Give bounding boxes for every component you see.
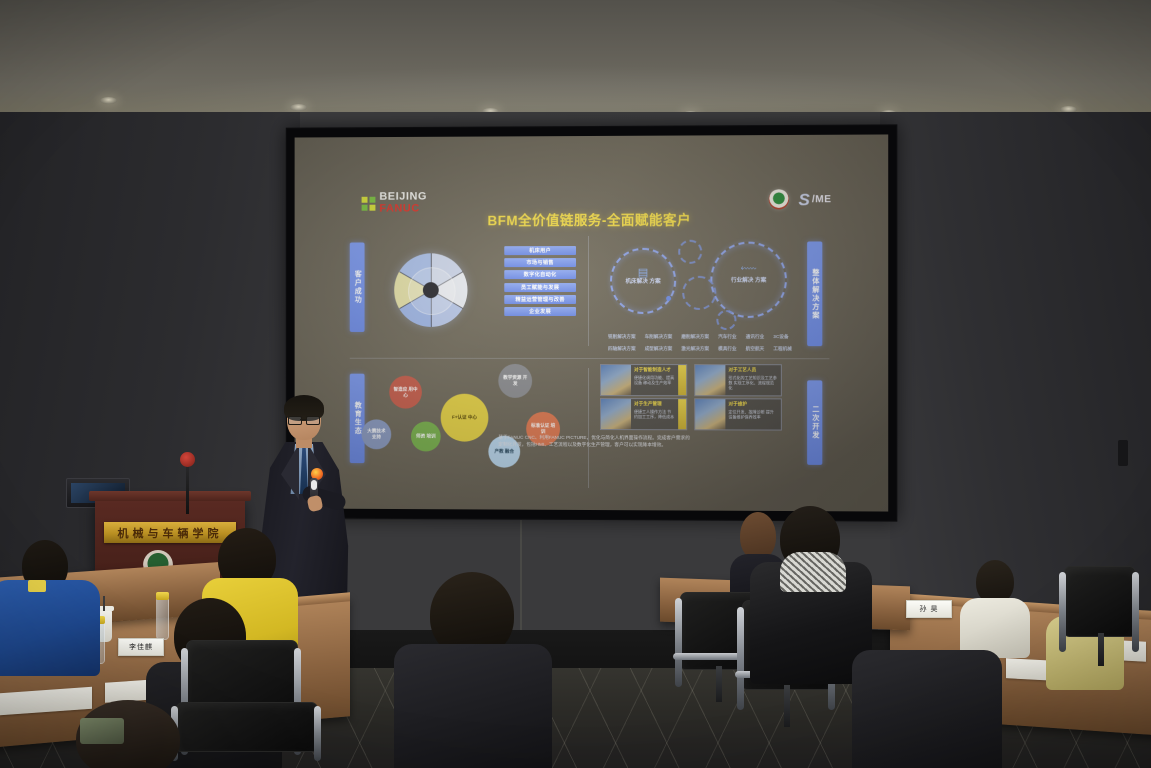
audience-member-center (398, 572, 548, 768)
value-bar: 企业发展 (504, 307, 576, 316)
microphone-stand (186, 462, 189, 514)
audience-member-front-head (52, 700, 202, 768)
industry-tag: 工程机械 (773, 346, 792, 352)
downlight (290, 104, 307, 111)
dev-card-header: 对于工艺人员 (728, 367, 777, 373)
eco-circle-f-plus: F+认证 中心 (441, 394, 489, 442)
dev-card-text: 便捷工人操作方法 节约加工工序，降低成本 (634, 409, 675, 420)
gear-label: 行业解决 方案 (712, 278, 785, 285)
car-icon: ⬳ (741, 262, 757, 275)
gear-label: 机床解决 方案 (612, 279, 674, 286)
partner-badges: S /ME (769, 189, 831, 209)
badge-lanyard (28, 580, 46, 592)
podium-top (89, 491, 251, 501)
seal-emblem-icon (769, 189, 789, 209)
industry-tag: 航空航天 (746, 346, 765, 352)
dev-card-header: 对于生产管理 (634, 401, 675, 407)
hood-pattern (780, 552, 846, 592)
quadrant-label-total-solution: 整体解决方案 (807, 241, 822, 346)
wall-speaker (1118, 440, 1128, 466)
industry-tag: 通讯行业 (746, 334, 765, 340)
dev-card: 对于工艺人员 形式化的工艺知识及工艺参数 实现工序化、流程规范化 (694, 364, 782, 396)
industry-tag: 汽车行业 (718, 334, 737, 340)
dev-card-text: 形式化的工艺知识及工艺参数 实现工序化、流程规范化 (728, 375, 777, 391)
gear-machine-tool-solution: ▤ 机床解决 方案 (610, 248, 676, 314)
machine-tool-icon: ▤ (638, 266, 648, 279)
torso (0, 580, 100, 676)
eco-circle: 智造应 用中心 (389, 376, 422, 409)
dev-paragraph: 基于FANUC CNC、利用FANUC PICTURE，优化与简化人机界面操作流… (498, 434, 694, 449)
presentation-slide: BEIJING FANUC S /ME BFM全价值链服务-全面赋能客户 (295, 134, 889, 511)
projection-screen: BEIJING FANUC S /ME BFM全价值链服务-全面赋能客户 (295, 134, 889, 511)
torso (852, 650, 1002, 768)
slide-title: BFM全价值链服务-全面赋能客户 (295, 208, 889, 230)
value-bar: 员工赋能与发展 (504, 283, 576, 292)
torso (394, 644, 552, 768)
dev-card: 对于生产管理 便捷工人操作方法 节约加工工序，降低成本 (600, 398, 687, 430)
dev-card-photo (695, 399, 725, 429)
ceiling (0, 0, 1151, 118)
value-bar: 市场与销售 (504, 258, 576, 267)
dev-card-text: 定位开发、故障诊断 提升设备维护保养效率 (728, 409, 777, 420)
gear-industry-solution: ⬳ 行业解决 方案 (710, 242, 787, 318)
eco-circle: 师资 培训 (411, 422, 441, 452)
glasses-icon (288, 416, 320, 423)
value-bar: 精益运营管理与改善 (504, 295, 576, 304)
industry-row-1: 铣削解决方案 车削解决方案 磨削解决方案 汽车行业 通讯行业 3C设备 (608, 334, 789, 340)
gear-small-icon (678, 240, 702, 264)
smartphone[interactable] (80, 718, 124, 744)
eco-circle: 大赛技术 支持 (362, 419, 392, 449)
gear-small-icon (716, 310, 736, 330)
divider-vertical-bottom (588, 368, 589, 488)
dev-card-photo (601, 399, 631, 429)
audience-member-right-front (852, 640, 1002, 768)
chair (1064, 566, 1134, 662)
value-bar: 数字化自动化 (504, 270, 576, 279)
downlight (100, 97, 117, 104)
dev-card-photo (695, 365, 725, 395)
dev-card: 对于智能制造人才 便捷化调用功能、提高设备 稼动及生产效率 (600, 364, 687, 396)
divider-vertical-top (588, 236, 589, 346)
dev-card-photo (601, 365, 631, 395)
screenshot-root: BEIJING FANUC S /ME BFM全价值链服务-全面赋能客户 (0, 0, 1151, 768)
industry-tag: 3C设备 (773, 334, 788, 340)
industry-tag: 激光解决方案 (681, 346, 709, 352)
audience-member (962, 560, 1026, 652)
dev-card-tab (678, 399, 686, 429)
projection-screen-frame: BEIJING FANUC S /ME BFM全价值链服务-全面赋能客户 (286, 124, 898, 521)
dev-card: 对于维护 定位开发、故障诊断 提升设备维护保养效率 (694, 398, 782, 430)
dev-card-tab (678, 365, 686, 395)
value-bar-list: 机床用户 市场与销售 数字化自动化 员工赋能与发展 精益运营管理与改善 企业发展 (504, 246, 576, 316)
industry-row-2: 四轴解决方案 成型解决方案 激光解决方案 模具行业 航空航天 工程机械 (608, 346, 792, 352)
logo-squares-icon (362, 196, 376, 210)
industry-tag: 磨削解决方案 (681, 334, 709, 340)
industry-tag: 铣削解决方案 (608, 334, 636, 340)
sme-swoosh-icon: S (798, 191, 809, 208)
dev-card-header: 对于维护 (728, 401, 777, 407)
gear-dot-icon (666, 296, 671, 301)
industry-tag: 车削解决方案 (645, 334, 673, 340)
industry-tag: 四轴解决方案 (608, 346, 636, 352)
sme-label: /ME (812, 194, 832, 205)
microphone-head-icon (180, 452, 195, 467)
sme-logo: S /ME (798, 191, 831, 208)
audience-member-blue-jacket (0, 540, 104, 668)
dev-card-header: 对于智能制造人才 (634, 367, 675, 373)
name-card: 孙 昊 (906, 600, 952, 618)
value-wheel-diagram (394, 253, 467, 327)
dev-card-text: 便捷化调用功能、提高设备 稼动及生产效率 (634, 375, 675, 386)
gear-small-icon (682, 276, 716, 310)
eco-circle: 教学资源 开发 (498, 364, 532, 398)
value-bar: 机床用户 (504, 246, 576, 255)
logo-line-beijing: BEIJING (379, 192, 427, 204)
industry-tag: 模具行业 (718, 346, 737, 352)
industry-tag: 成型解决方案 (645, 346, 673, 352)
quadrant-label-customer-success: 客户成功 (350, 242, 365, 331)
divider-horizontal (350, 358, 830, 359)
quadrant-label-secondary-development: 二次开发 (807, 380, 822, 465)
